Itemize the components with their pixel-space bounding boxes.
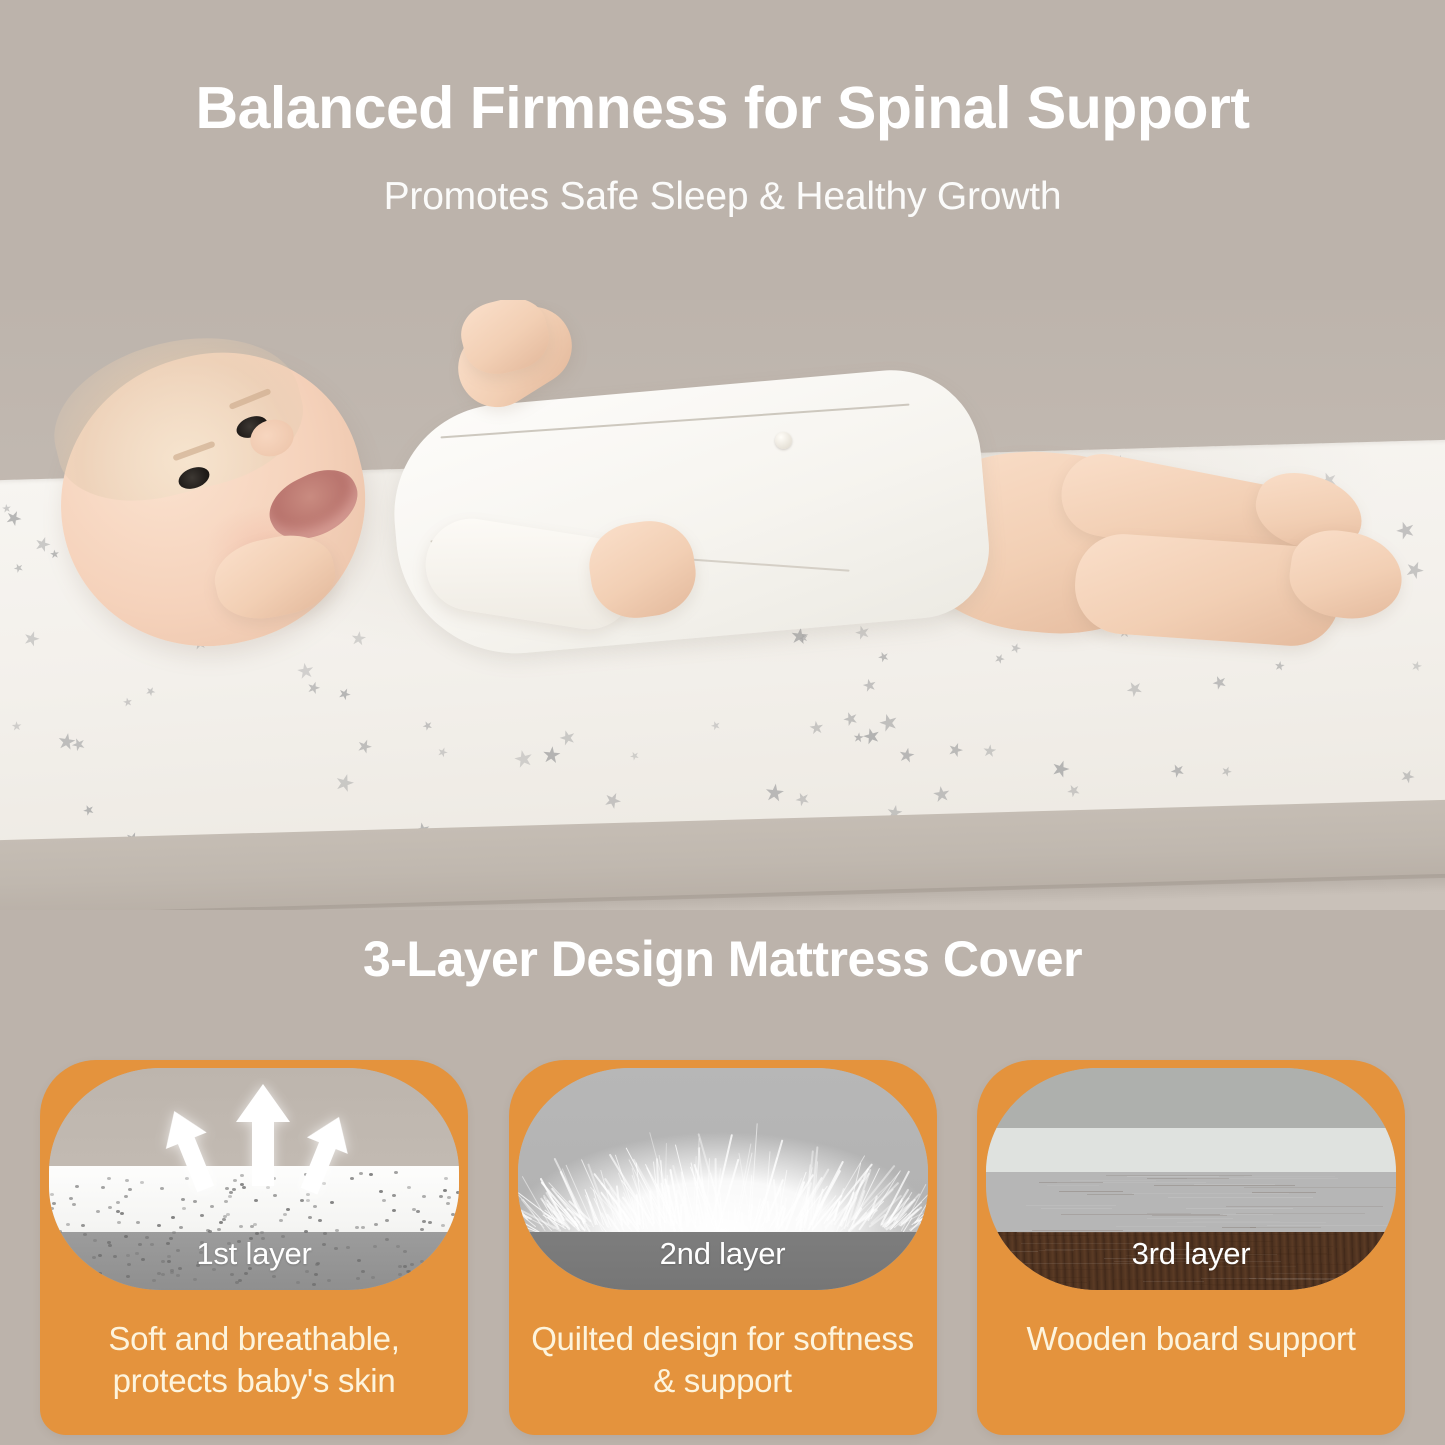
foam-speck	[279, 1219, 283, 1222]
layer-card-1[interactable]: 1st layer Soft and breathable, protects …	[40, 1060, 468, 1435]
foam-speck	[219, 1221, 223, 1224]
wood-grain-line	[1033, 1277, 1091, 1278]
page-subtitle: Promotes Safe Sleep & Healthy Growth	[0, 175, 1445, 219]
foam-speck	[314, 1273, 318, 1276]
wood-grain-line	[1249, 1278, 1358, 1279]
foam-speck	[210, 1205, 214, 1208]
foam-speck	[422, 1195, 426, 1198]
foam-speck	[232, 1188, 236, 1191]
wood-grain-line	[1222, 1227, 1255, 1228]
foam-speck	[224, 1200, 228, 1203]
wood-grain-line	[1186, 1208, 1293, 1209]
panel-gray-top	[986, 1068, 1396, 1128]
foam-speck	[323, 1232, 327, 1235]
layer-3-image-panel: 3rd layer	[986, 1068, 1396, 1290]
foam-speck	[230, 1273, 234, 1276]
foam-speck	[50, 1207, 54, 1210]
wood-grain-line	[1116, 1226, 1206, 1227]
foam-speck	[250, 1225, 254, 1228]
foam-speck	[96, 1210, 100, 1213]
wood-grain-line	[1152, 1215, 1227, 1216]
foam-speck	[304, 1230, 308, 1233]
layer-3-label: 3rd layer	[986, 1236, 1396, 1272]
layer-1-image-panel: 1st layer	[49, 1068, 459, 1290]
foam-speck	[128, 1188, 132, 1191]
foam-speck	[117, 1221, 121, 1224]
foam-speck	[136, 1221, 140, 1224]
hero-photo: ★★★★★★★★★★★★★★★★★★★★★★★★★★★★★★★★★★★★★★★★…	[0, 300, 1445, 910]
wood-grain-line	[1012, 1230, 1180, 1231]
layer-1-label: 1st layer	[49, 1236, 459, 1272]
wood-grain-line	[1087, 1194, 1134, 1195]
wood-grain-line	[1071, 1180, 1156, 1181]
foam-speck	[350, 1177, 354, 1180]
wood-grain-line	[1047, 1185, 1100, 1186]
foam-speck	[356, 1277, 360, 1280]
wood-grain-line	[1252, 1192, 1316, 1193]
layer-2-caption: Quilted design for softness & support	[531, 1318, 915, 1401]
foam-speck	[359, 1172, 363, 1175]
foam-speck	[308, 1216, 312, 1219]
foam-speck	[398, 1273, 402, 1276]
wood-grain-line	[1154, 1185, 1295, 1186]
foam-speck	[296, 1281, 300, 1284]
airflow-arrow-center-icon	[234, 1082, 292, 1188]
wood-grain-line	[1017, 1232, 1173, 1233]
foam-speck	[124, 1195, 128, 1198]
wood-grain-line	[1177, 1222, 1326, 1223]
foam-speck	[182, 1207, 186, 1210]
foam-speck	[428, 1221, 432, 1224]
foam-speck	[273, 1194, 277, 1197]
wood-grain-line	[1106, 1175, 1252, 1176]
foam-speck	[306, 1199, 310, 1202]
layer-2-image-panel: 2nd layer	[518, 1068, 928, 1290]
foam-speck	[193, 1200, 197, 1203]
foam-speck	[172, 1231, 176, 1234]
foam-speck	[217, 1228, 221, 1231]
wood-grain-line	[1201, 1278, 1256, 1279]
section-title: 3-Layer Design Mattress Cover	[0, 930, 1445, 988]
foam-speck	[235, 1281, 239, 1284]
fiber-mound	[518, 1104, 928, 1233]
wood-grain-line	[1143, 1281, 1204, 1282]
foam-speck	[225, 1187, 229, 1190]
wood-grain-line	[1250, 1227, 1321, 1228]
page-title: Balanced Firmness for Spinal Support	[0, 76, 1445, 141]
foam-speck	[379, 1190, 383, 1193]
wood-grain-line	[1168, 1197, 1313, 1198]
wood-grain-line	[1023, 1282, 1087, 1283]
wood-grain-line	[1061, 1214, 1220, 1215]
foam-speck	[272, 1275, 276, 1278]
wood-grain-line	[1187, 1178, 1338, 1179]
foam-speck	[80, 1273, 84, 1276]
wood-grain-line	[1212, 1285, 1360, 1286]
foam-speck	[161, 1273, 165, 1276]
infographic-page: Balanced Firmness for Spinal Support Pro…	[0, 0, 1445, 1445]
foam-speck	[392, 1194, 396, 1197]
wood-grain-line	[1266, 1279, 1379, 1280]
foam-speck	[286, 1208, 290, 1211]
foam-speck	[52, 1202, 56, 1205]
foam-speck	[399, 1277, 403, 1280]
wood-grain-line	[1267, 1225, 1396, 1226]
layer-2-label: 2nd layer	[518, 1236, 928, 1272]
layer-1-caption: Soft and breathable, protects baby's ski…	[62, 1318, 446, 1401]
layer-card-3[interactable]: 3rd layer Wooden board support	[977, 1060, 1405, 1435]
foam-speck	[443, 1189, 447, 1192]
foam-speck	[160, 1187, 164, 1190]
foam-speck	[126, 1275, 130, 1278]
foam-speck	[451, 1213, 455, 1216]
foam-speck	[442, 1280, 446, 1283]
panel-light-band	[986, 1128, 1396, 1172]
layer-card-2[interactable]: 2nd layer Quilted design for softness & …	[509, 1060, 937, 1435]
foam-speck	[439, 1195, 443, 1198]
foam-speck	[101, 1186, 105, 1189]
foam-speck	[327, 1279, 331, 1282]
baby-figure	[0, 300, 1445, 910]
foam-speck	[330, 1201, 334, 1204]
wood-grain-line	[1057, 1182, 1206, 1183]
foam-speck	[456, 1191, 459, 1194]
wood-grain-line	[1113, 1279, 1252, 1280]
foam-speck	[457, 1284, 459, 1287]
wood-grain-line	[1244, 1187, 1396, 1188]
baby-onesie	[385, 363, 995, 663]
wood-grain-line	[1026, 1205, 1116, 1206]
wood-grain-line	[1147, 1218, 1233, 1219]
wood-grain-line	[1244, 1176, 1335, 1177]
onesie-button	[775, 432, 792, 449]
wood-grain-line	[1041, 1208, 1112, 1209]
wood-grain-line	[1223, 1214, 1273, 1215]
foam-speck	[361, 1226, 365, 1229]
foam-speck	[179, 1226, 183, 1229]
foam-speck	[300, 1199, 304, 1202]
layer-cards: 1st layer Soft and breathable, protects …	[40, 1060, 1405, 1435]
layer-3-caption: Wooden board support	[999, 1318, 1383, 1360]
wood-grain-line	[1271, 1273, 1396, 1274]
foam-speck	[313, 1205, 317, 1208]
wood-grain-line	[1059, 1191, 1123, 1192]
